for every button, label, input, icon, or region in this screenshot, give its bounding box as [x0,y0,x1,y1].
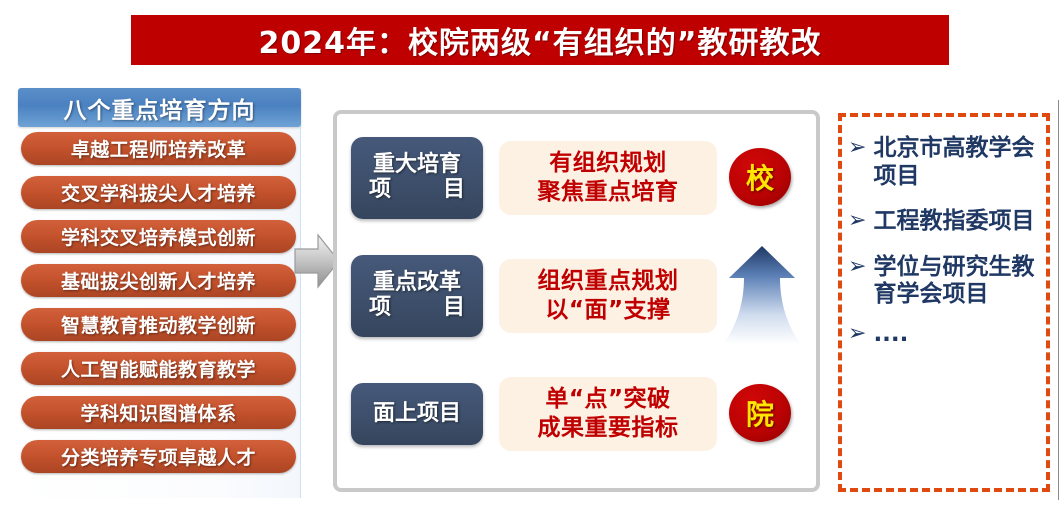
row-tag-line1: 重大培育 [373,153,461,178]
sidebar-header-label: 八个重点培育方向 [64,91,256,125]
row-desc-line1: 组织重点规划 [538,267,679,296]
row-tag-line1: 面上项目 [373,402,461,427]
up-arrow-icon [721,240,803,352]
row-tag-line2: 项 目 [369,296,465,321]
row-tag-line2-right: 目 [443,296,465,321]
row-desc-line2: 聚焦重点培育 [538,178,679,207]
row-tag-line2-left: 项 [369,296,391,321]
center-panel: 重大培育 项 目 有组织规划 聚焦重点培育 校 重点改革 项 目 组织重点规划 … [333,110,820,492]
sidebar-item-3[interactable]: 学科交叉培养模式创新 [21,220,296,253]
row-desc-line2: 以“面”支撑 [545,296,670,325]
sidebar-item-6[interactable]: 人工智能赋能教育教学 [21,352,296,385]
chevron-right-icon: ➢ [848,321,866,347]
badge-school-label: 校 [746,157,774,197]
row-badge-slot-3: 院 [723,364,803,464]
sidebar-item-8[interactable]: 分类培养专项卓越人才 [21,440,296,473]
sidebar-item-label: 智慧教育推动教学创新 [61,311,256,338]
sidebar-item-7[interactable]: 学科知识图谱体系 [21,396,296,429]
row-tag-general-project[interactable]: 面上项目 [351,383,483,445]
sidebar: 八个重点培育方向 卓越工程师培养改革 交叉学科拔尖人才培养 学科交叉培养模式创新… [18,88,301,498]
page-title-banner: 2024年：校院两级“有组织的”教研教改 [131,15,949,65]
right-list-item-label: .... [873,321,908,349]
row-tag-key-reform[interactable]: 重点改革 项 目 [351,255,483,337]
sidebar-item-label: 人工智能赋能教育教学 [61,355,256,382]
chevron-right-icon: ➢ [848,254,866,280]
row-desc-line1: 单“点”突破 [545,385,670,414]
sidebar-item-label: 基础拔尖创新人才培养 [61,267,256,294]
center-row-3: 面上项目 单“点”突破 成果重要指标 院 [351,364,811,464]
right-list-item-label: 学位与研究生教育学会项目 [873,254,1042,309]
right-panel: ➢ 北京市高教学会项目 ➢ 工程教指委项目 ➢ 学位与研究生教育学会项目 ➢ .… [838,113,1050,492]
sidebar-item-label: 卓越工程师培养改革 [71,135,247,162]
right-list-item-1[interactable]: ➢ 北京市高教学会项目 [848,135,1042,190]
sidebar-item-1[interactable]: 卓越工程师培养改革 [21,132,296,165]
center-row-1: 重大培育 项 目 有组织规划 聚焦重点培育 校 [351,128,811,228]
right-list-item-label: 工程教指委项目 [873,208,1034,236]
center-row-2: 重点改革 项 目 组织重点规划 以“面”支撑 [351,246,811,346]
right-list-item-2[interactable]: ➢ 工程教指委项目 [848,208,1042,236]
sidebar-item-2[interactable]: 交叉学科拔尖人才培养 [21,176,296,209]
right-list-item-label: 北京市高教学会项目 [873,135,1042,190]
sidebar-item-5[interactable]: 智慧教育推动教学创新 [21,308,296,341]
row-desc-line2: 成果重要指标 [538,414,679,443]
row-description-1: 有组织规划 聚焦重点培育 [499,141,717,216]
row-badge-slot-1: 校 [723,128,803,228]
row-badge-slot-2 [723,246,803,346]
row-description-2: 组织重点规划 以“面”支撑 [499,259,717,334]
slide-edge-divider [1058,100,1059,500]
sidebar-item-label: 学科知识图谱体系 [80,399,236,426]
row-tag-line2-left: 项 [369,178,391,203]
row-tag-line1: 重点改革 [373,271,461,296]
row-tag-major-cultivation[interactable]: 重大培育 项 目 [351,137,483,219]
sidebar-item-label: 交叉学科拔尖人才培养 [61,179,256,206]
row-desc-line1: 有组织规划 [549,149,667,178]
badge-school: 校 [729,148,791,206]
row-description-3: 单“点”突破 成果重要指标 [499,377,717,452]
chevron-right-icon: ➢ [848,135,866,161]
page-title: 2024年：校院两级“有组织的”教研教改 [259,18,822,62]
badge-college-label: 院 [746,393,774,433]
sidebar-item-label: 学科交叉培养模式创新 [61,223,256,250]
sidebar-header: 八个重点培育方向 [18,88,301,127]
row-tag-line2: 项 目 [369,178,465,203]
sidebar-item-label: 分类培养专项卓越人才 [61,443,256,470]
row-tag-line2-right: 目 [443,178,465,203]
sidebar-item-4[interactable]: 基础拔尖创新人才培养 [21,264,296,297]
chevron-right-icon: ➢ [848,208,866,234]
right-list-item-4[interactable]: ➢ .... [848,321,1042,349]
sidebar-list: 卓越工程师培养改革 交叉学科拔尖人才培养 学科交叉培养模式创新 基础拔尖创新人才… [18,132,301,484]
badge-college: 院 [729,384,791,442]
right-list-item-3[interactable]: ➢ 学位与研究生教育学会项目 [848,254,1042,309]
